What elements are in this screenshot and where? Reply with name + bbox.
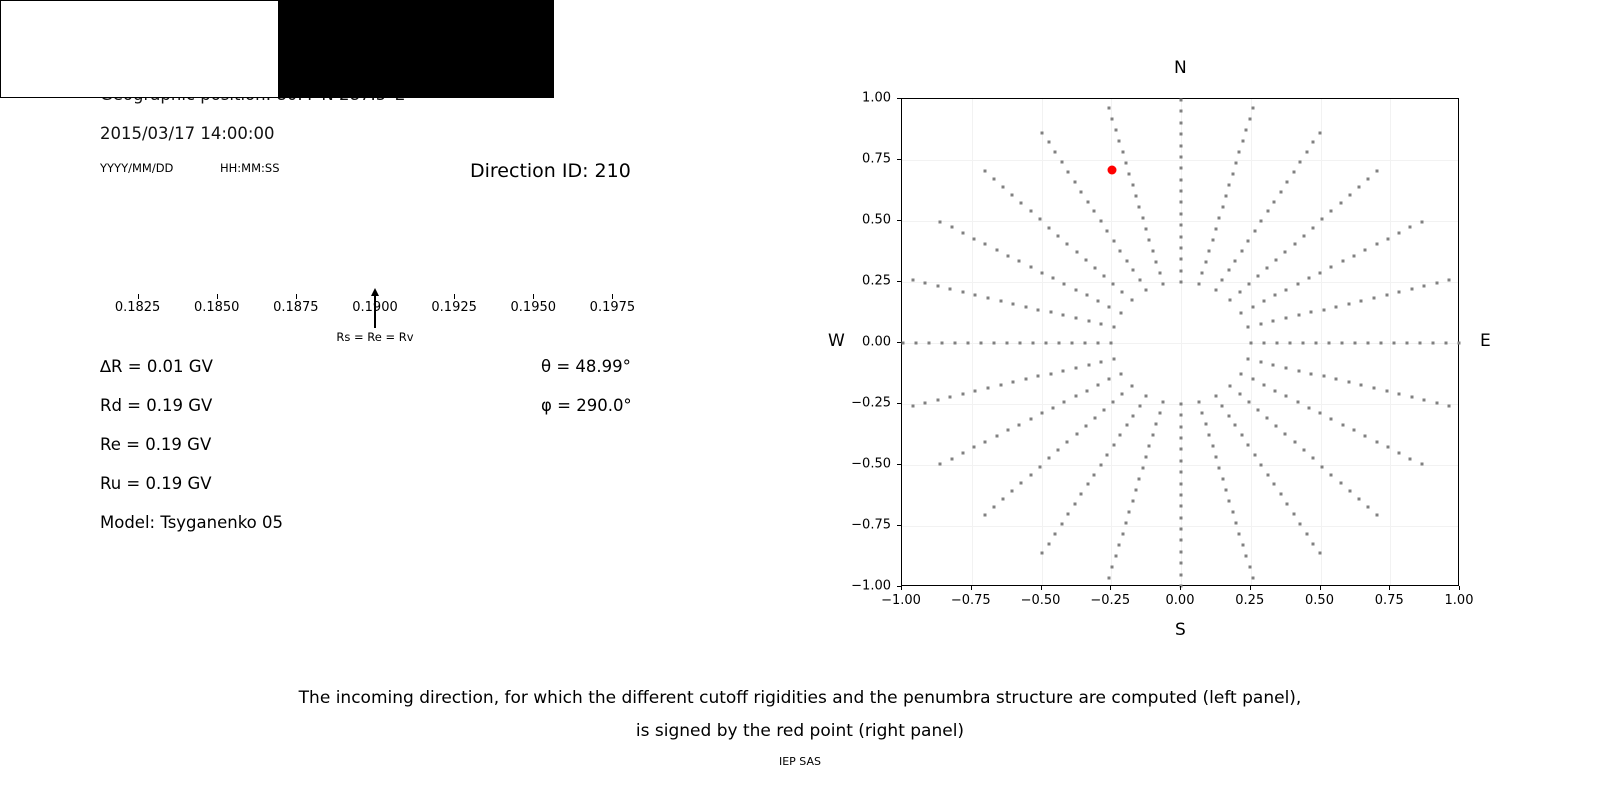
direction-point <box>1073 503 1076 506</box>
direction-point <box>1256 409 1259 412</box>
direction-point <box>941 342 944 345</box>
direction-point <box>1221 404 1224 407</box>
direction-point <box>924 282 927 285</box>
x-axis-tick-label: 0.00 <box>1166 593 1195 608</box>
direction-point <box>1110 342 1113 345</box>
direction-point <box>1180 281 1183 284</box>
direction-map-panel: −1.00−0.75−0.50−0.250.000.250.500.751.00… <box>0 0 1600 660</box>
direction-point <box>1231 173 1234 176</box>
selected-direction-point <box>1107 165 1116 174</box>
x-axis-tick <box>901 586 902 590</box>
direction-point <box>1071 342 1074 345</box>
direction-point <box>1161 283 1164 286</box>
direction-point <box>1058 342 1061 345</box>
x-axis-tick-label: 0.75 <box>1375 593 1404 608</box>
direction-point <box>1180 155 1183 158</box>
direction-point <box>1322 308 1325 311</box>
direction-point <box>1364 435 1367 438</box>
direction-point <box>983 513 986 516</box>
direction-point <box>1119 434 1122 437</box>
y-axis-tick-label: 0.00 <box>839 335 891 350</box>
direction-point <box>1067 171 1070 174</box>
direction-point <box>1180 459 1183 462</box>
direction-point <box>1211 239 1214 242</box>
direction-point <box>1075 433 1078 436</box>
direction-point <box>1288 342 1291 345</box>
y-axis-tick <box>897 525 901 526</box>
x-axis-tick-label: −1.00 <box>881 593 921 608</box>
direction-point <box>1087 363 1090 366</box>
direction-point <box>1114 554 1117 557</box>
direction-point <box>1011 489 1014 492</box>
direction-point <box>1312 141 1315 144</box>
direction-point <box>995 435 998 438</box>
direction-point <box>939 220 942 223</box>
direction-point <box>1180 144 1183 147</box>
direction-point <box>999 299 1002 302</box>
direction-point <box>1253 453 1256 456</box>
direction-point <box>1321 218 1324 221</box>
direction-point <box>1119 372 1122 375</box>
direction-point <box>1148 444 1151 447</box>
direction-point <box>1198 400 1201 403</box>
x-axis-tick-label: 0.50 <box>1305 593 1334 608</box>
direction-point <box>1398 452 1401 455</box>
direction-point <box>1180 178 1183 181</box>
direction-point <box>1060 161 1063 164</box>
direction-point <box>1353 342 1356 345</box>
direction-point <box>1141 466 1144 469</box>
direction-point <box>1052 406 1055 409</box>
direction-point <box>1286 503 1289 506</box>
direction-point <box>1302 234 1305 237</box>
direction-point <box>1204 422 1207 425</box>
direction-point <box>1410 287 1413 290</box>
direction-point <box>1448 279 1451 282</box>
direction-point <box>1151 433 1154 436</box>
direction-point <box>1106 453 1109 456</box>
direction-point <box>1235 162 1238 165</box>
direction-point <box>1138 477 1141 480</box>
direction-point <box>954 342 957 345</box>
direction-point <box>1266 266 1269 269</box>
direction-point <box>1067 512 1070 515</box>
direction-point <box>1398 290 1401 293</box>
direction-point <box>1097 383 1100 386</box>
direction-point <box>1423 398 1426 401</box>
direction-point <box>1086 200 1089 203</box>
direction-point <box>1138 404 1141 407</box>
direction-point <box>1138 206 1141 209</box>
direction-point <box>1074 395 1077 398</box>
direction-point <box>1214 289 1217 292</box>
direction-point <box>1047 141 1050 144</box>
direction-point <box>1180 201 1183 204</box>
direction-point <box>1221 477 1224 480</box>
direction-point <box>924 401 927 404</box>
direction-point <box>1274 294 1277 297</box>
direction-point <box>1006 429 1009 432</box>
direction-point <box>1063 400 1066 403</box>
direction-point <box>1012 381 1015 384</box>
x-axis-tick <box>1180 586 1181 590</box>
direction-point <box>1318 131 1321 134</box>
direction-point <box>1084 425 1087 428</box>
direction-point <box>1409 457 1412 460</box>
direction-point <box>1135 195 1138 198</box>
direction-point <box>1418 342 1421 345</box>
direction-point <box>1251 378 1254 381</box>
direction-point <box>984 243 987 246</box>
direction-point <box>1262 383 1265 386</box>
direction-point <box>1041 131 1044 134</box>
y-axis-tick <box>897 403 901 404</box>
direction-point <box>1274 389 1277 392</box>
direction-point <box>1296 283 1299 286</box>
direction-point <box>1180 482 1183 485</box>
direction-point <box>1266 210 1269 213</box>
direction-point <box>1224 195 1227 198</box>
direction-point <box>987 296 990 299</box>
direction-point <box>1367 505 1370 508</box>
direction-point <box>1158 272 1161 275</box>
direction-point <box>1358 497 1361 500</box>
direction-point <box>1108 107 1111 110</box>
direction-point <box>1180 133 1183 136</box>
direction-point <box>1431 342 1434 345</box>
direction-point <box>1284 250 1287 253</box>
direction-point <box>1227 414 1230 417</box>
direction-point <box>1375 440 1378 443</box>
y-axis-tick <box>897 464 901 465</box>
direction-point <box>1100 360 1103 363</box>
direction-point <box>1108 378 1111 381</box>
direction-point <box>1319 412 1322 415</box>
direction-point <box>1085 294 1088 297</box>
direction-point <box>1273 483 1276 486</box>
direction-point <box>1214 394 1217 397</box>
direction-point <box>1093 266 1096 269</box>
direction-point <box>949 287 952 290</box>
direction-point <box>1148 239 1151 242</box>
direction-point <box>1032 342 1035 345</box>
x-axis-tick-label: 0.25 <box>1235 593 1264 608</box>
direction-point <box>1112 357 1115 360</box>
direction-point <box>1312 457 1315 460</box>
direction-point <box>1319 271 1322 274</box>
direction-point <box>1376 170 1379 173</box>
direction-point <box>1180 550 1183 553</box>
direction-point <box>1218 466 1221 469</box>
direction-point <box>1448 404 1451 407</box>
compass-label-west: W <box>828 331 845 351</box>
direction-point <box>1066 242 1069 245</box>
direction-point <box>1118 543 1121 546</box>
direction-point <box>950 457 953 460</box>
direction-point <box>1229 298 1232 301</box>
direction-point <box>1093 210 1096 213</box>
y-axis-tick-label: 0.75 <box>839 152 891 167</box>
direction-point <box>1392 342 1395 345</box>
direction-point <box>1339 481 1342 484</box>
direction-point <box>1321 465 1324 468</box>
direction-point <box>1135 488 1138 491</box>
direction-point <box>1180 493 1183 496</box>
direction-point <box>1218 217 1221 220</box>
direction-point <box>1247 326 1250 329</box>
direction-point <box>1335 378 1338 381</box>
direction-point <box>1075 250 1078 253</box>
direction-point <box>1285 395 1288 398</box>
direction-point <box>1245 129 1248 132</box>
direction-point <box>1238 532 1241 535</box>
direction-point <box>1379 342 1382 345</box>
direction-point <box>1145 289 1148 292</box>
direction-point <box>1047 226 1050 229</box>
direction-point <box>1114 129 1117 132</box>
direction-point <box>1240 372 1243 375</box>
direction-point <box>1318 552 1321 555</box>
direction-point <box>1099 220 1102 223</box>
direction-point <box>1279 493 1282 496</box>
y-axis-tick-label: −0.25 <box>839 396 891 411</box>
direction-point <box>1260 463 1263 466</box>
direction-point <box>1275 425 1278 428</box>
direction-point <box>1211 444 1214 447</box>
direction-point <box>1229 385 1232 388</box>
direction-point <box>1052 277 1055 280</box>
direction-point <box>1049 311 1052 314</box>
direction-point <box>1080 190 1083 193</box>
direction-point <box>1161 400 1164 403</box>
direction-point <box>1299 522 1302 525</box>
direction-point <box>1420 463 1423 466</box>
direction-point <box>1341 423 1344 426</box>
direction-point <box>1423 285 1426 288</box>
direction-point <box>1262 342 1265 345</box>
x-axis-tick <box>1250 586 1251 590</box>
direction-point <box>1305 151 1308 154</box>
direction-point <box>1398 393 1401 396</box>
direction-point <box>1435 282 1438 285</box>
direction-point <box>984 440 987 443</box>
direction-point <box>1093 417 1096 420</box>
direction-point <box>1410 396 1413 399</box>
compass-label-east: E <box>1480 331 1491 351</box>
direction-point <box>936 398 939 401</box>
direction-point <box>987 387 990 390</box>
direction-point <box>1235 521 1238 524</box>
direction-point <box>1112 444 1115 447</box>
direction-point <box>1292 171 1295 174</box>
direction-point <box>1272 320 1275 323</box>
direction-point <box>1234 259 1237 262</box>
direction-point <box>1125 424 1128 427</box>
direction-point <box>1057 234 1060 237</box>
direction-point <box>1131 184 1134 187</box>
y-axis-tick <box>897 342 901 343</box>
direction-point <box>1106 230 1109 233</box>
direction-point <box>973 446 976 449</box>
direction-point <box>1312 226 1315 229</box>
direction-point <box>1385 390 1388 393</box>
direction-point <box>1097 342 1100 345</box>
direction-point <box>1228 499 1231 502</box>
direction-point <box>928 342 931 345</box>
direction-point <box>1330 210 1333 213</box>
direction-point <box>1310 311 1313 314</box>
direction-point <box>1330 473 1333 476</box>
direction-point <box>1038 218 1041 221</box>
direction-point <box>1249 342 1252 345</box>
direction-point <box>1119 311 1122 314</box>
direction-point <box>1435 401 1438 404</box>
direction-point <box>1087 320 1090 323</box>
direction-point <box>1084 342 1087 345</box>
direction-point <box>1358 186 1361 189</box>
direction-point <box>1272 363 1275 366</box>
direction-point <box>1247 357 1250 360</box>
direction-point <box>1012 302 1015 305</box>
direction-point <box>1020 202 1023 205</box>
direction-point <box>1266 417 1269 420</box>
direction-point <box>1132 414 1135 417</box>
direction-point <box>1372 387 1375 390</box>
figure-caption: The incoming direction, for which the di… <box>0 682 1600 748</box>
direction-point <box>1040 271 1043 274</box>
direction-point <box>1124 521 1127 524</box>
direction-point <box>1372 296 1375 299</box>
direction-point <box>999 384 1002 387</box>
direction-point <box>1214 228 1217 231</box>
direction-point <box>1080 493 1083 496</box>
direction-point <box>1145 455 1148 458</box>
y-axis-tick-label: 1.00 <box>839 91 891 106</box>
direction-point <box>1247 239 1250 242</box>
y-axis-tick <box>897 586 901 587</box>
direction-point <box>1029 266 1032 269</box>
direction-point <box>1398 231 1401 234</box>
direction-point <box>1180 190 1183 193</box>
direction-point <box>1348 489 1351 492</box>
direction-point <box>1180 414 1183 417</box>
direction-point <box>1180 246 1183 249</box>
direction-point <box>1262 300 1265 303</box>
direction-point <box>1180 121 1183 124</box>
direction-point <box>1307 277 1310 280</box>
direction-point <box>1340 342 1343 345</box>
direction-point <box>1158 411 1161 414</box>
direction-point <box>1275 342 1278 345</box>
direction-point <box>1305 532 1308 535</box>
direction-point <box>1121 151 1124 154</box>
direction-point <box>961 231 964 234</box>
direction-point <box>1376 513 1379 516</box>
direction-point <box>1322 375 1325 378</box>
direction-point <box>1409 226 1412 229</box>
direction-point <box>1180 224 1183 227</box>
direction-point <box>1121 290 1124 293</box>
direction-point <box>1045 342 1048 345</box>
direction-point <box>1360 299 1363 302</box>
direction-point <box>1066 441 1069 444</box>
direction-point <box>1248 118 1251 121</box>
x-axis-tick <box>1041 586 1042 590</box>
direction-point <box>1006 254 1009 257</box>
direction-point <box>1247 282 1250 285</box>
direction-point <box>1060 522 1063 525</box>
direction-point <box>1155 422 1158 425</box>
direction-point <box>1386 446 1389 449</box>
direction-point <box>973 237 976 240</box>
direction-point <box>1208 250 1211 253</box>
direction-point <box>1247 401 1250 404</box>
direction-point <box>1125 259 1128 262</box>
direction-point <box>1201 272 1204 275</box>
direction-point <box>1180 516 1183 519</box>
direction-point <box>1180 167 1183 170</box>
direction-point <box>1353 429 1356 432</box>
direction-point <box>1275 258 1278 261</box>
direction-point <box>1238 151 1241 154</box>
x-axis-tick-label: −0.75 <box>951 593 991 608</box>
direction-point <box>1238 290 1241 293</box>
y-axis-tick-label: −0.75 <box>839 518 891 533</box>
direction-point <box>1057 449 1060 452</box>
direction-point <box>1054 532 1057 535</box>
direction-point <box>967 342 970 345</box>
direction-point <box>1018 260 1021 263</box>
direction-point <box>1121 393 1124 396</box>
direction-point <box>1180 562 1183 565</box>
direction-point <box>1118 140 1121 143</box>
direction-point <box>1251 305 1254 308</box>
direction-point <box>902 342 905 345</box>
direction-point <box>1024 378 1027 381</box>
direction-point <box>915 342 918 345</box>
direction-point <box>1297 314 1300 317</box>
direction-point <box>1132 269 1135 272</box>
direction-point <box>1366 342 1369 345</box>
direction-point <box>1097 300 1100 303</box>
x-axis-tick-label: −0.50 <box>1021 593 1061 608</box>
direction-point <box>911 404 914 407</box>
direction-point <box>1018 423 1021 426</box>
direction-point <box>1038 465 1041 468</box>
direction-point <box>992 178 995 181</box>
direction-point <box>1093 473 1096 476</box>
direction-point <box>1029 417 1032 420</box>
direction-point <box>1240 434 1243 437</box>
caption-line-1: The incoming direction, for which the di… <box>0 682 1600 715</box>
direction-point <box>1301 342 1304 345</box>
direction-point <box>1180 269 1183 272</box>
direction-point <box>1247 444 1250 447</box>
direction-point <box>1084 258 1087 261</box>
direction-point <box>1367 178 1370 181</box>
direction-point <box>1041 552 1044 555</box>
direction-point <box>1128 510 1131 513</box>
compass-label-north: N <box>1174 58 1187 78</box>
direction-point <box>1386 237 1389 240</box>
direction-point <box>1155 261 1158 264</box>
direction-point <box>1198 283 1201 286</box>
direction-point <box>1145 228 1148 231</box>
direction-point <box>1124 162 1127 165</box>
direction-point <box>1347 302 1350 305</box>
direction-point <box>1074 288 1077 291</box>
direction-point <box>1348 194 1351 197</box>
